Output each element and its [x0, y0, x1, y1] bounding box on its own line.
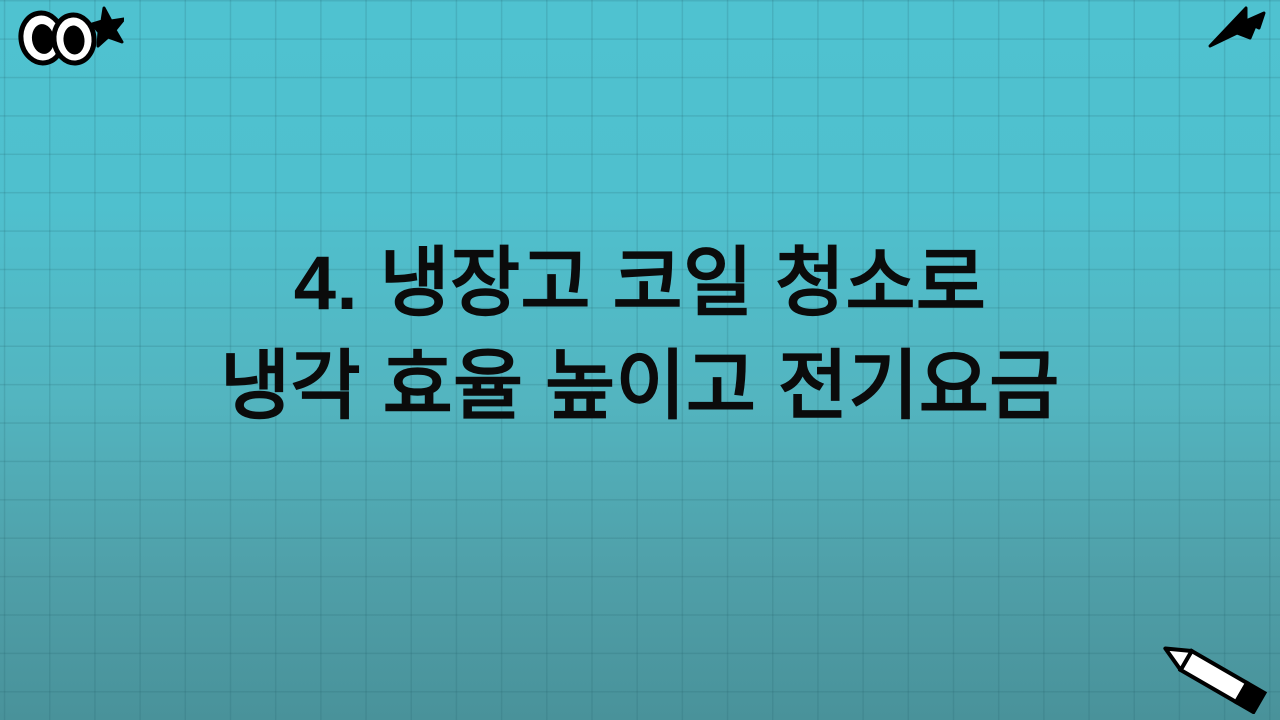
- star-icon: [92, 8, 124, 46]
- arrow-doodle-svg: [1206, 4, 1268, 54]
- page-title: 4. 냉장고 코일 청소로 냉각 효율 높이고 전기요금: [0, 232, 1280, 439]
- arrow-doodle: [1206, 4, 1268, 54]
- slide-canvas: 4. 냉장고 코일 청소로 냉각 효율 높이고 전기요금: [0, 0, 1280, 720]
- arrow-icon: [1210, 8, 1264, 46]
- logo-svg: [12, 6, 124, 68]
- pencil-body: [1181, 651, 1247, 702]
- pencil-doodle-svg: [1152, 638, 1274, 714]
- pencil-doodle: [1152, 638, 1274, 714]
- googly-eyes-star-logo: [12, 6, 124, 68]
